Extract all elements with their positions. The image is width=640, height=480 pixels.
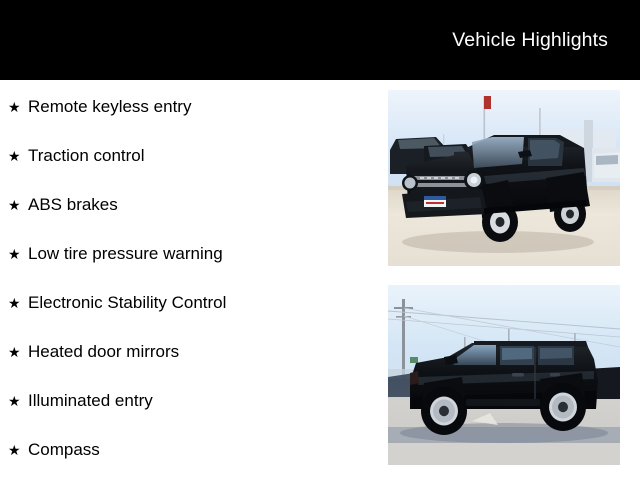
star-bullet-icon: ★ <box>8 149 28 163</box>
feature-label: Illuminated entry <box>28 392 153 411</box>
feature-label: Low tire pressure warning <box>28 245 223 264</box>
list-item: ★ Low tire pressure warning <box>8 242 223 266</box>
feature-label: Electronic Stability Control <box>28 294 226 313</box>
feature-label: Traction control <box>28 147 145 166</box>
list-item: ★ ABS brakes <box>8 193 118 217</box>
list-item: ★ Compass <box>8 438 100 462</box>
star-bullet-icon: ★ <box>8 100 28 114</box>
star-bullet-icon: ★ <box>8 394 28 408</box>
feature-label: Compass <box>28 441 100 460</box>
slide-content: ★ Remote keyless entry ★ Traction contro… <box>0 80 640 480</box>
vehicle-photo-side-illustration <box>388 285 620 465</box>
list-item: ★ Traction control <box>8 144 145 168</box>
list-item: ★ Heated door mirrors <box>8 340 179 364</box>
vehicle-feature-list: ★ Remote keyless entry ★ Traction contro… <box>0 80 380 480</box>
list-item: ★ Electronic Stability Control <box>8 291 226 315</box>
page-title: Vehicle Highlights <box>452 29 608 52</box>
feature-label: Heated door mirrors <box>28 343 179 362</box>
feature-label: ABS brakes <box>28 196 118 215</box>
feature-label: Remote keyless entry <box>28 98 191 117</box>
star-bullet-icon: ★ <box>8 296 28 310</box>
star-bullet-icon: ★ <box>8 198 28 212</box>
list-item: ★ Remote keyless entry <box>8 95 191 119</box>
star-bullet-icon: ★ <box>8 247 28 261</box>
header-bar: Vehicle Highlights <box>0 0 640 80</box>
list-item: ★ Illuminated entry <box>8 389 153 413</box>
vehicle-photo-front-illustration <box>388 90 620 266</box>
star-bullet-icon: ★ <box>8 345 28 359</box>
vehicle-photo-front-three-quarter <box>388 90 620 266</box>
star-bullet-icon: ★ <box>8 443 28 457</box>
vehicle-photo-side-profile <box>388 285 620 465</box>
